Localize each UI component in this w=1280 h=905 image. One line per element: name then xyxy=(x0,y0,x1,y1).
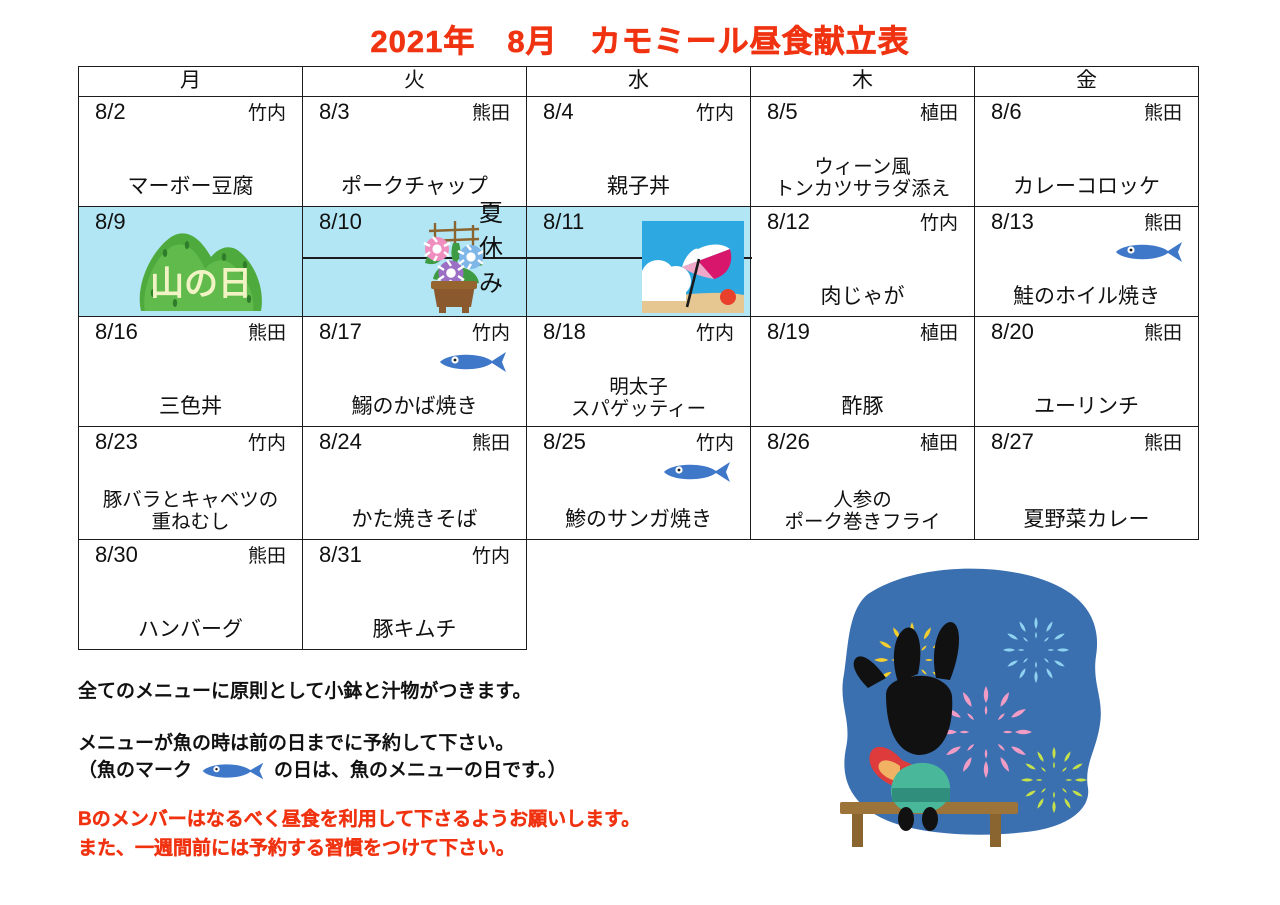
cell-staff: 植田 xyxy=(920,324,958,345)
cell-staff: 竹内 xyxy=(920,214,958,235)
cell-menu: 酢豚 xyxy=(751,395,974,419)
weekday-header-thu: 木 xyxy=(751,67,975,97)
fish-icon xyxy=(436,349,510,375)
rabbit-watching-fireworks-illustration xyxy=(790,552,1120,882)
cell-header: 8/20熊田 xyxy=(975,317,1198,345)
cell-menu: ユーリンチ xyxy=(975,395,1198,419)
note-line-3: （魚のマーク の日は、魚のメニューの日です。） xyxy=(78,757,798,785)
cell-staff: 竹内 xyxy=(696,324,734,345)
calendar-cell-8-25[interactable]: 8/25竹内鯵のサンガ焼き xyxy=(527,427,751,540)
cell-menu: 三色丼 xyxy=(79,395,302,419)
menu-sheet-page: 2021年 8月 カモミール昼食献立表 月 火 水 木 金 8/2竹内マーボー豆… xyxy=(0,0,1280,905)
weekday-header-fri: 金 xyxy=(975,67,1199,97)
cell-staff: 竹内 xyxy=(248,104,286,125)
calendar-cell-8-5[interactable]: 8/5植田ウィーン風 トンカツサラダ添え xyxy=(751,97,975,207)
cell-header: 8/2竹内 xyxy=(79,97,302,125)
svg-text:山の日: 山の日 xyxy=(150,264,252,304)
cell-staff: 熊田 xyxy=(1144,324,1182,345)
calendar-week-row: 8/16熊田三色丼8/17竹内鰯のかば焼き8/18竹内明太子 スパゲッティー8/… xyxy=(79,317,1199,427)
cell-date: 8/11 xyxy=(543,210,584,234)
calendar-cell-8-13[interactable]: 8/13熊田鮭のホイル焼き xyxy=(975,207,1199,317)
calendar-cell-8-4[interactable]: 8/4竹内親子丼 xyxy=(527,97,751,207)
calendar-cell-8-6[interactable]: 8/6熊田カレーコロッケ xyxy=(975,97,1199,207)
fish-icon xyxy=(660,459,734,485)
fish-icon xyxy=(1112,239,1186,265)
cell-date: 8/19 xyxy=(767,320,810,344)
cell-date: 8/16 xyxy=(95,320,138,344)
cell-date: 8/2 xyxy=(95,100,126,124)
cell-header: 8/6熊田 xyxy=(975,97,1198,125)
cell-header: 8/4竹内 xyxy=(527,97,750,125)
cell-staff: 竹内 xyxy=(472,547,510,568)
cell-staff: 植田 xyxy=(920,434,958,455)
cell-staff: 植田 xyxy=(920,104,958,125)
calendar-cell-8-2[interactable]: 8/2竹内マーボー豆腐 xyxy=(79,97,303,207)
cell-menu: 鯵のサンガ焼き xyxy=(527,508,750,532)
cell-menu: 人参の ポーク巻きフライ xyxy=(751,490,974,534)
red-notes-block: Bのメンバーはなるべく昼食を利用して下さるようお願いします。 また、一週間前には… xyxy=(78,806,838,863)
cell-date: 8/3 xyxy=(319,100,350,124)
calendar-cell-8-17[interactable]: 8/17竹内鰯のかば焼き xyxy=(303,317,527,427)
cell-staff: 熊田 xyxy=(1144,214,1182,235)
cell-header: 8/27熊田 xyxy=(975,427,1198,455)
cell-header: 8/12竹内 xyxy=(751,207,974,235)
calendar-cell-8-9[interactable]: 8/9山の日 xyxy=(79,207,303,317)
red-note-line-1: Bのメンバーはなるべく昼食を利用して下さるようお願いします。 xyxy=(78,806,838,835)
cell-staff: 竹内 xyxy=(696,104,734,125)
cell-header: 8/19植田 xyxy=(751,317,974,345)
weekday-header-row: 月 火 水 木 金 xyxy=(79,67,1199,97)
note-line-3-prefix: （魚のマーク xyxy=(78,757,192,785)
calendar-week-row: 8/9山の日8/10夏休み8/118/12竹内肉じゃが8/13熊田鮭のホイル焼き xyxy=(79,207,1199,317)
cell-menu: ウィーン風 トンカツサラダ添え xyxy=(751,157,974,201)
cell-header: 8/25竹内 xyxy=(527,427,750,455)
cell-date: 8/24 xyxy=(319,430,362,454)
calendar-cell-8-11[interactable]: 8/11 xyxy=(527,207,751,317)
notes-block: 全てのメニューに原則として小鉢と汁物がつきます。 メニューが魚の時は前の日までに… xyxy=(78,678,798,785)
red-note-line-2: また、一週間前には予約する習慣をつけて下さい。 xyxy=(78,835,838,864)
calendar-cell-8-30[interactable]: 8/30熊田ハンバーグ xyxy=(79,540,303,650)
cell-date: 8/5 xyxy=(767,100,798,124)
calendar-week-row: 8/23竹内豚バラとキャベツの 重ねむし8/24熊田かた焼きそば8/25竹内鯵の… xyxy=(79,427,1199,540)
cell-header: 8/31竹内 xyxy=(303,540,526,568)
cell-date: 8/27 xyxy=(991,430,1034,454)
cell-date: 8/10 xyxy=(319,210,362,234)
cell-staff: 竹内 xyxy=(696,434,734,455)
cell-menu: 親子丼 xyxy=(527,175,750,199)
cell-menu: 夏野菜カレー xyxy=(975,508,1198,532)
cell-header: 8/9 xyxy=(79,207,302,234)
fish-icon xyxy=(198,760,268,782)
calendar-cell-8-10[interactable]: 8/10夏休み xyxy=(303,207,527,317)
cell-menu: 鮭のホイル焼き xyxy=(975,285,1198,309)
calendar-cell-8-12[interactable]: 8/12竹内肉じゃが xyxy=(751,207,975,317)
calendar-cell-8-23[interactable]: 8/23竹内豚バラとキャベツの 重ねむし xyxy=(79,427,303,540)
calendar-cell-empty xyxy=(527,540,751,650)
cell-date: 8/4 xyxy=(543,100,574,124)
cell-header: 8/13熊田 xyxy=(975,207,1198,235)
cell-staff: 熊田 xyxy=(1144,434,1182,455)
cell-header: 8/24熊田 xyxy=(303,427,526,455)
cell-date: 8/17 xyxy=(319,320,362,344)
cell-header: 8/18竹内 xyxy=(527,317,750,345)
cell-menu: 鰯のかば焼き xyxy=(303,395,526,419)
page-title: 2021年 8月 カモミール昼食献立表 xyxy=(0,16,1280,61)
cell-menu: 豚バラとキャベツの 重ねむし xyxy=(79,490,302,534)
cell-date: 8/25 xyxy=(543,430,586,454)
cell-menu: 肉じゃが xyxy=(751,285,974,309)
cell-header: 8/23竹内 xyxy=(79,427,302,455)
calendar-cell-8-18[interactable]: 8/18竹内明太子 スパゲッティー xyxy=(527,317,751,427)
calendar-cell-8-24[interactable]: 8/24熊田かた焼きそば xyxy=(303,427,527,540)
cell-staff: 熊田 xyxy=(472,434,510,455)
cell-menu: ハンバーグ xyxy=(79,618,302,642)
cell-header: 8/16熊田 xyxy=(79,317,302,345)
cell-header: 8/17竹内 xyxy=(303,317,526,345)
weekday-header-tue: 火 xyxy=(303,67,527,97)
calendar-cell-8-20[interactable]: 8/20熊田ユーリンチ xyxy=(975,317,1199,427)
cell-menu: カレーコロッケ xyxy=(975,175,1198,199)
cell-date: 8/13 xyxy=(991,210,1034,234)
calendar-cell-8-3[interactable]: 8/3熊田ポークチャップ xyxy=(303,97,527,207)
calendar-week-row: 8/2竹内マーボー豆腐8/3熊田ポークチャップ8/4竹内親子丼8/5植田ウィーン… xyxy=(79,97,1199,207)
calendar-cell-8-27[interactable]: 8/27熊田夏野菜カレー xyxy=(975,427,1199,540)
night-sky-shape xyxy=(842,569,1100,835)
calendar-cell-8-16[interactable]: 8/16熊田三色丼 xyxy=(79,317,303,427)
cell-staff: 竹内 xyxy=(248,434,286,455)
summer-break-label: 夏休み xyxy=(479,193,526,298)
cell-staff: 熊田 xyxy=(248,324,286,345)
note-line-3-suffix: の日は、魚のメニューの日です。） xyxy=(274,757,567,785)
note-line-2: メニューが魚の時は前の日までに予約して下さい。 xyxy=(78,730,798,758)
cell-date: 8/6 xyxy=(991,100,1022,124)
cell-menu: マーボー豆腐 xyxy=(79,175,302,199)
calendar-cell-8-31[interactable]: 8/31竹内豚キムチ xyxy=(303,540,527,650)
note-line-1: 全てのメニューに原則として小鉢と汁物がつきます。 xyxy=(78,678,798,706)
cell-menu: 明太子 スパゲッティー xyxy=(527,377,750,421)
cell-date: 8/18 xyxy=(543,320,586,344)
cell-staff: 竹内 xyxy=(472,324,510,345)
cell-date: 8/26 xyxy=(767,430,810,454)
calendar-cell-8-26[interactable]: 8/26植田人参の ポーク巻きフライ xyxy=(751,427,975,540)
cell-staff: 熊田 xyxy=(248,547,286,568)
weekday-header-mon: 月 xyxy=(79,67,303,97)
cell-date: 8/30 xyxy=(95,543,138,567)
calendar-cell-8-19[interactable]: 8/19植田酢豚 xyxy=(751,317,975,427)
cell-header: 8/26植田 xyxy=(751,427,974,455)
cell-menu: かた焼きそば xyxy=(303,508,526,532)
cell-date: 8/20 xyxy=(991,320,1034,344)
cell-date: 8/23 xyxy=(95,430,138,454)
cell-header: 8/3熊田 xyxy=(303,97,526,125)
cell-staff: 熊田 xyxy=(472,104,510,125)
cell-menu: 豚キムチ xyxy=(303,618,526,642)
cell-staff: 熊田 xyxy=(1144,104,1182,125)
weekday-header-wed: 水 xyxy=(527,67,751,97)
cell-date: 8/9 xyxy=(95,210,126,234)
cell-header: 8/5植田 xyxy=(751,97,974,125)
cell-date: 8/31 xyxy=(319,543,362,567)
beach-parasol-illustration xyxy=(642,221,744,313)
cell-header: 8/30熊田 xyxy=(79,540,302,568)
cell-date: 8/12 xyxy=(767,210,810,234)
